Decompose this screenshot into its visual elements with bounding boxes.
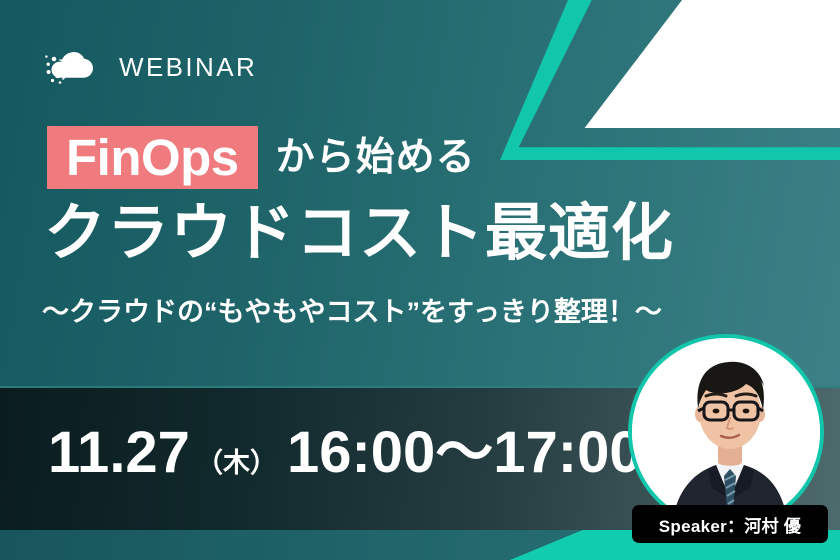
cloud-particles-icon xyxy=(44,46,102,88)
event-date: 11.27 xyxy=(48,424,190,482)
title-line-two: クラウドコスト最適化 xyxy=(44,198,674,269)
schedule-row: 11.27 （木） 16:00〜17:00 xyxy=(48,424,642,482)
banner-subtitle: ～クラウドの“もやもやコスト”をすっきり整理！～ xyxy=(42,296,662,328)
webinar-label: WEBINAR xyxy=(119,54,257,80)
speaker-name-tag: Speaker：河村 優 xyxy=(632,505,828,543)
webinar-banner: WEBINAR FinOps から始める クラウドコスト最適化 ～クラウドの“も… xyxy=(0,0,840,560)
event-time: 16:00〜17:00 xyxy=(287,424,642,482)
finops-highlight: FinOps xyxy=(47,126,258,189)
banner-header: WEBINAR xyxy=(44,46,257,88)
speaker-portrait xyxy=(628,334,824,530)
title-line-one-tail: から始める xyxy=(276,138,476,177)
event-weekday: （木） xyxy=(196,450,277,477)
title-line-one: FinOps から始める xyxy=(47,126,476,189)
